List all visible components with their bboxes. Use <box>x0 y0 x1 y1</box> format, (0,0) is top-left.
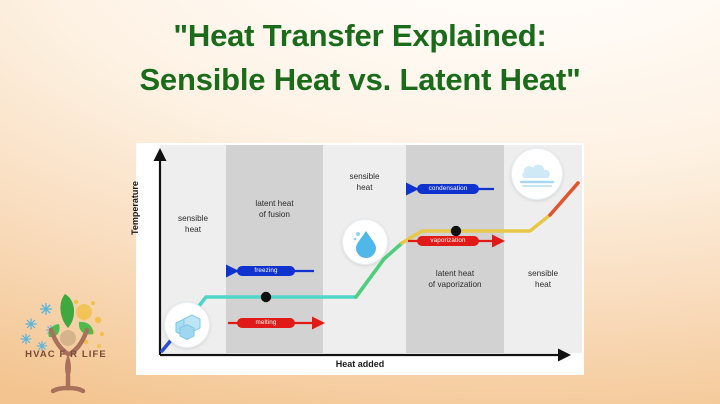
title-line-1: "Heat Transfer Explained: <box>0 14 720 58</box>
logo-wordmark: HVAC F R LIFE <box>6 349 126 360</box>
heating-curve <box>162 183 578 351</box>
annotation-vaporization[interactable]: vaporization <box>417 236 479 246</box>
slide-canvas: "Heat Transfer Explained: Sensible Heat … <box>0 0 720 404</box>
boiling-point-dot <box>451 226 461 236</box>
annotation-freezing[interactable]: freezing <box>237 266 295 276</box>
ice-cubes-icon <box>165 303 209 347</box>
title-line-2: Sensible Heat vs. Latent Heat" <box>0 58 720 102</box>
snowflake-cluster-icon <box>21 303 56 351</box>
page-title: "Heat Transfer Explained: Sensible Heat … <box>0 14 720 102</box>
curve-segment-melting-plateau <box>192 297 356 315</box>
annotation-melting[interactable]: melting <box>237 318 295 328</box>
water-drop-icon <box>343 220 387 264</box>
sun-dots-icon <box>74 300 104 348</box>
chart-panel: sensible heat latent heat of fusion sens… <box>136 143 584 375</box>
y-axis-label: Temperature <box>130 181 140 235</box>
x-axis-label: Heat added <box>136 359 584 369</box>
hvac-for-life-logo <box>6 272 134 398</box>
logo-tree-icon <box>6 272 134 398</box>
phase-change-diagram: sensible heat latent heat of fusion sens… <box>136 143 584 375</box>
melting-point-dot <box>261 292 271 302</box>
steam-cloud-icon <box>512 149 562 199</box>
logo-center-circle <box>60 330 76 346</box>
annotation-condensation[interactable]: condensation <box>417 184 479 194</box>
